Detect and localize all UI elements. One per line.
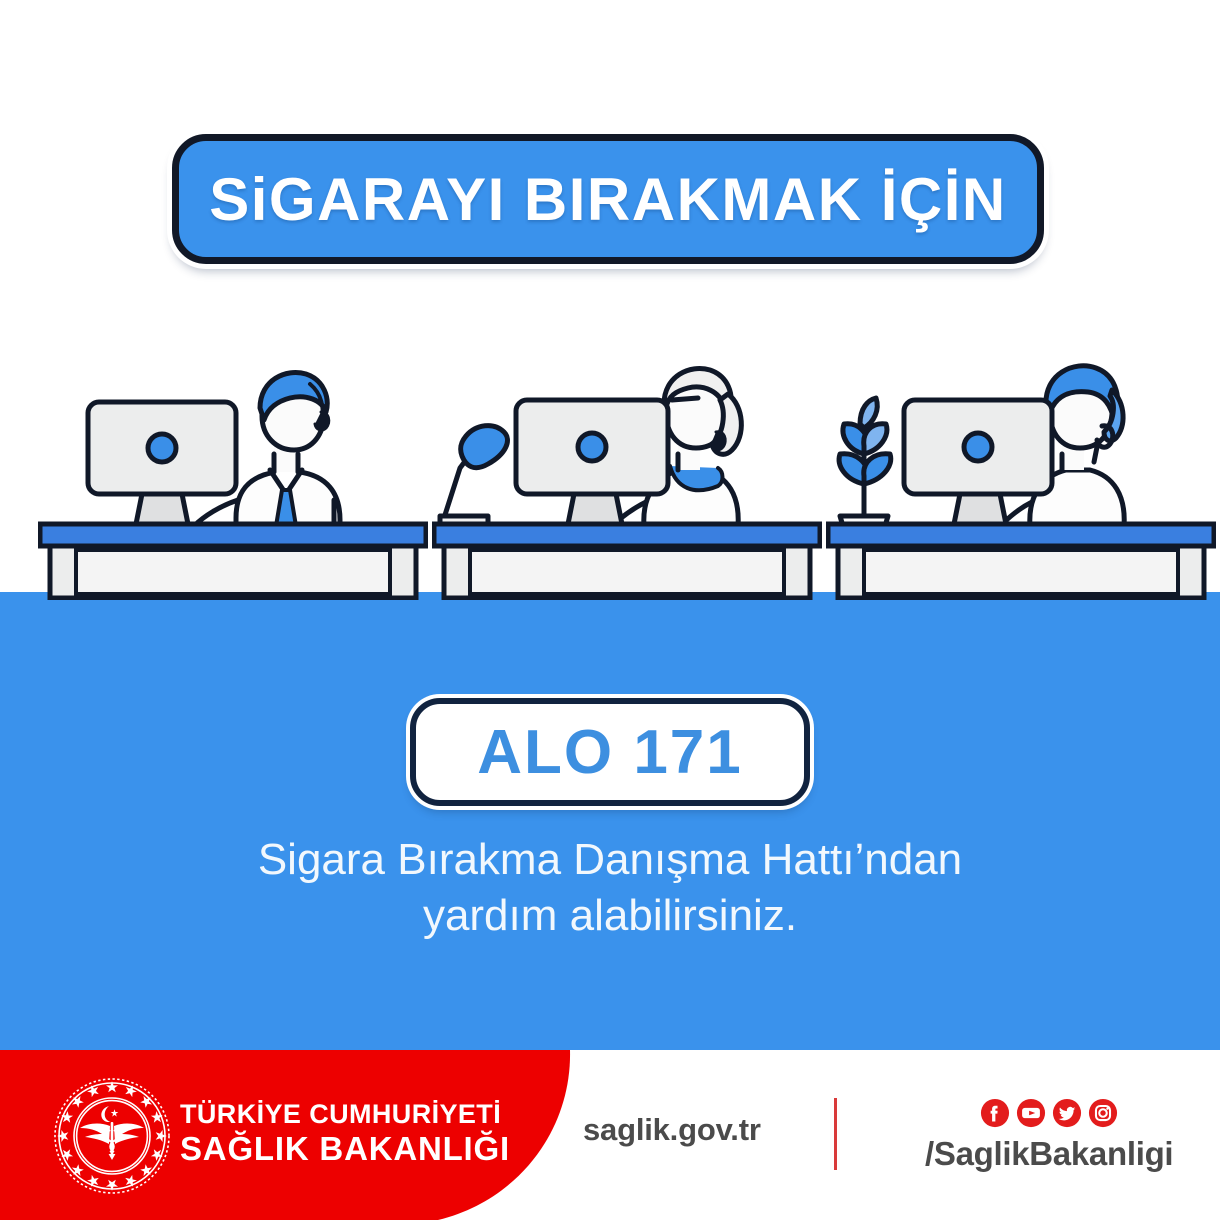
desk-station-right-graphic <box>826 350 1216 600</box>
desk-station-middle <box>432 350 822 600</box>
ministry-line-1: TÜRKİYE CUMHURİYETİ <box>180 1098 510 1130</box>
ministry-line-2: SAĞLIK BAKANLIĞI <box>180 1130 510 1168</box>
social-handle[interactable]: /SaglikBakanligi <box>925 1135 1173 1173</box>
desk-station-left-graphic <box>38 350 428 600</box>
poster-root: SiGARAYI BIRAKMAK İÇİN <box>0 0 1220 1220</box>
subtitle-block: Sigara Bırakma Danışma Hattı’ndan yardım… <box>110 832 1110 944</box>
call-center-illustration <box>0 350 1220 600</box>
hotline-number: ALO 171 <box>477 717 743 788</box>
poster-title: SiGARAYI BIRAKMAK İÇİN <box>209 165 1007 234</box>
ministry-emblem-icon <box>52 1076 172 1196</box>
website-url[interactable]: saglik.gov.tr <box>583 1112 761 1148</box>
footer-divider <box>834 1098 837 1170</box>
facebook-icon[interactable] <box>980 1098 1010 1128</box>
title-banner: SiGARAYI BIRAKMAK İÇİN <box>172 134 1044 264</box>
social-icons-row <box>980 1098 1118 1128</box>
hotline-badge: ALO 171 <box>410 698 810 806</box>
youtube-icon[interactable] <box>1016 1098 1046 1128</box>
desk-station-middle-graphic <box>432 350 822 600</box>
ministry-wordmark: TÜRKİYE CUMHURİYETİ SAĞLIK BAKANLIĞI <box>180 1098 510 1168</box>
subtitle-line-1: Sigara Bırakma Danışma Hattı’ndan <box>110 832 1110 888</box>
desk-station-left <box>38 350 428 600</box>
blue-background-band <box>0 592 1220 1050</box>
subtitle-line-2: yardım alabilirsiniz. <box>110 888 1110 944</box>
twitter-icon[interactable] <box>1052 1098 1082 1128</box>
instagram-icon[interactable] <box>1088 1098 1118 1128</box>
desk-station-right <box>826 350 1216 600</box>
desk-lamp-icon <box>440 426 507 526</box>
